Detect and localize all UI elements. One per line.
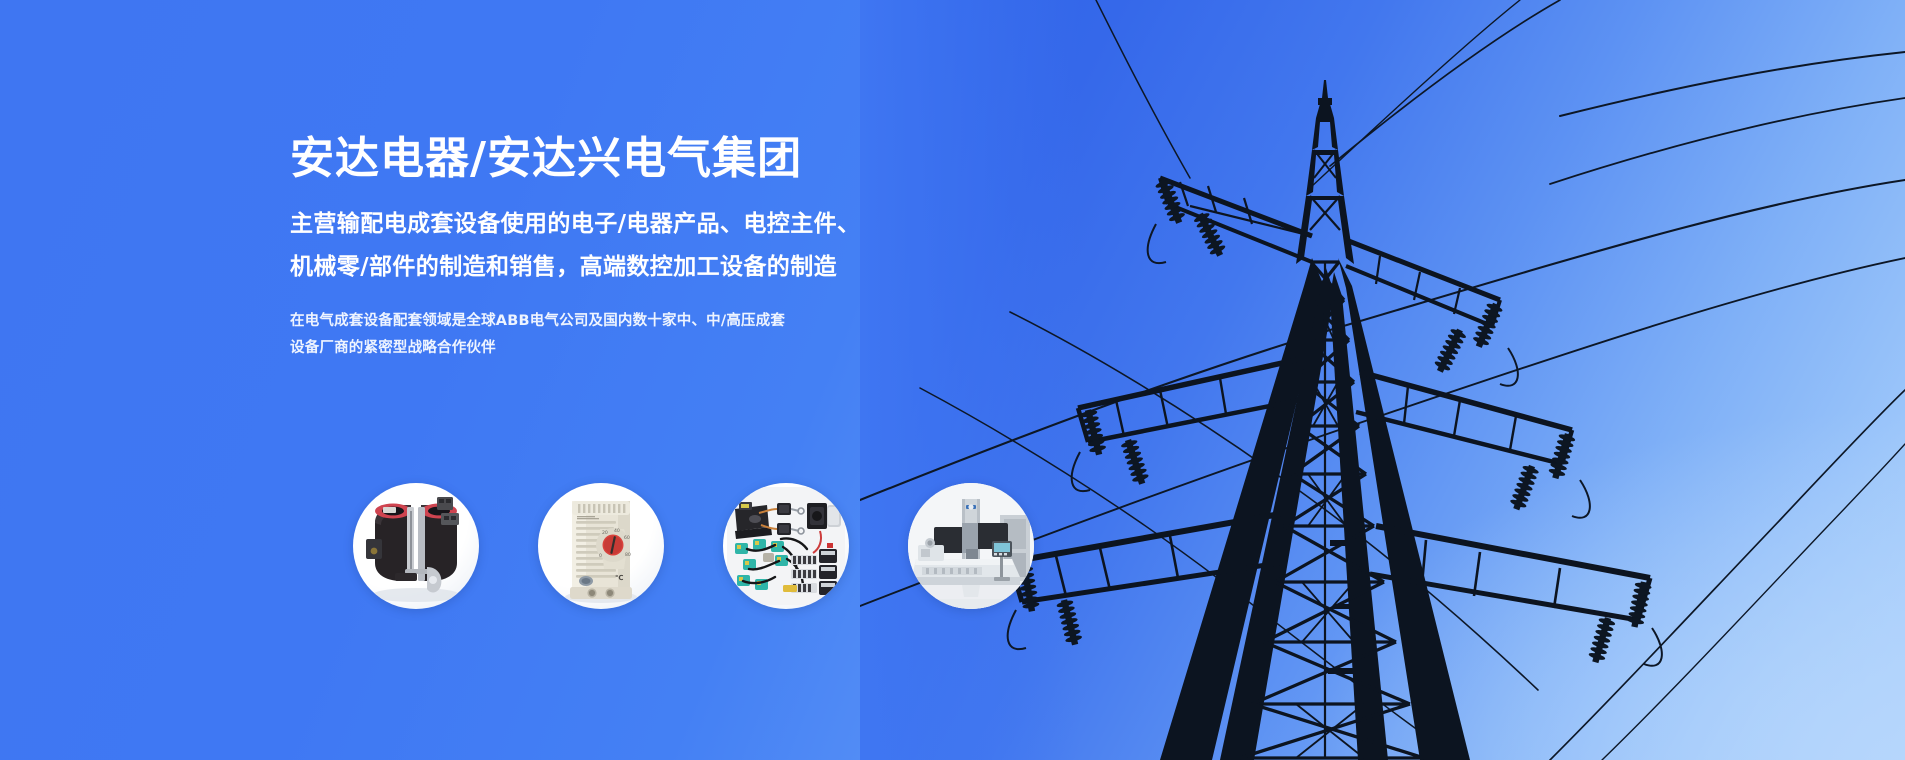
banner-text-block: 安达电器/安达兴电气集团 主营输配电成套设备使用的电子/电器产品、电控主件、 机… [290, 134, 1070, 362]
electrical-components-assortment-icon [723, 483, 849, 609]
svg-text:20: 20 [602, 530, 608, 536]
product-circle-electrical-components-assortment[interactable] [723, 483, 849, 609]
banner-subheadline: 主营输配电成套设备使用的电子/电器产品、电控主件、 机械零/部件的制造和销售，高… [290, 203, 1070, 288]
svg-text:80: 80 [625, 552, 631, 558]
subheadline-line-1: 主营输配电成套设备使用的电子/电器产品、电控主件、 [290, 203, 1070, 246]
svg-text:60: 60 [624, 535, 630, 541]
body-text-line-1: 在电气成套设备配套领域是全球ABB电气公司及国内数十家中、中/高压成套 [290, 308, 1070, 335]
product-circle-cabinet-thermostat[interactable]: 20 40 60 80 0 ℃ [538, 483, 664, 609]
banner-body-text: 在电气成套设备配套领域是全球ABB电气公司及国内数十家中、中/高压成套 设备厂商… [290, 308, 1070, 362]
product-circle-split-core-current-transformer[interactable] [353, 483, 479, 609]
hero-banner: 安达电器/安达兴电气集团 主营输配电成套设备使用的电子/电器产品、电控主件、 机… [0, 0, 1905, 760]
product-thumbnail-row: 20 40 60 80 0 ℃ [353, 483, 1034, 609]
cabinet-thermostat-icon: 20 40 60 80 0 ℃ [538, 483, 664, 609]
svg-text:0: 0 [599, 553, 602, 559]
transmission-tower-image [860, 0, 1905, 760]
banner-headline: 安达电器/安达兴电气集团 [290, 134, 1070, 183]
svg-text:℃: ℃ [615, 574, 623, 582]
product-circle-cnc-gantry-machining-center[interactable] [908, 483, 1034, 609]
body-text-line-2: 设备厂商的紧密型战略合作伙伴 [290, 335, 1070, 362]
subheadline-line-2: 机械零/部件的制造和销售，高端数控加工设备的制造 [290, 246, 1070, 289]
svg-text:40: 40 [614, 528, 620, 534]
split-core-current-transformer-icon [353, 483, 479, 609]
cnc-gantry-machining-center-icon [908, 483, 1034, 609]
